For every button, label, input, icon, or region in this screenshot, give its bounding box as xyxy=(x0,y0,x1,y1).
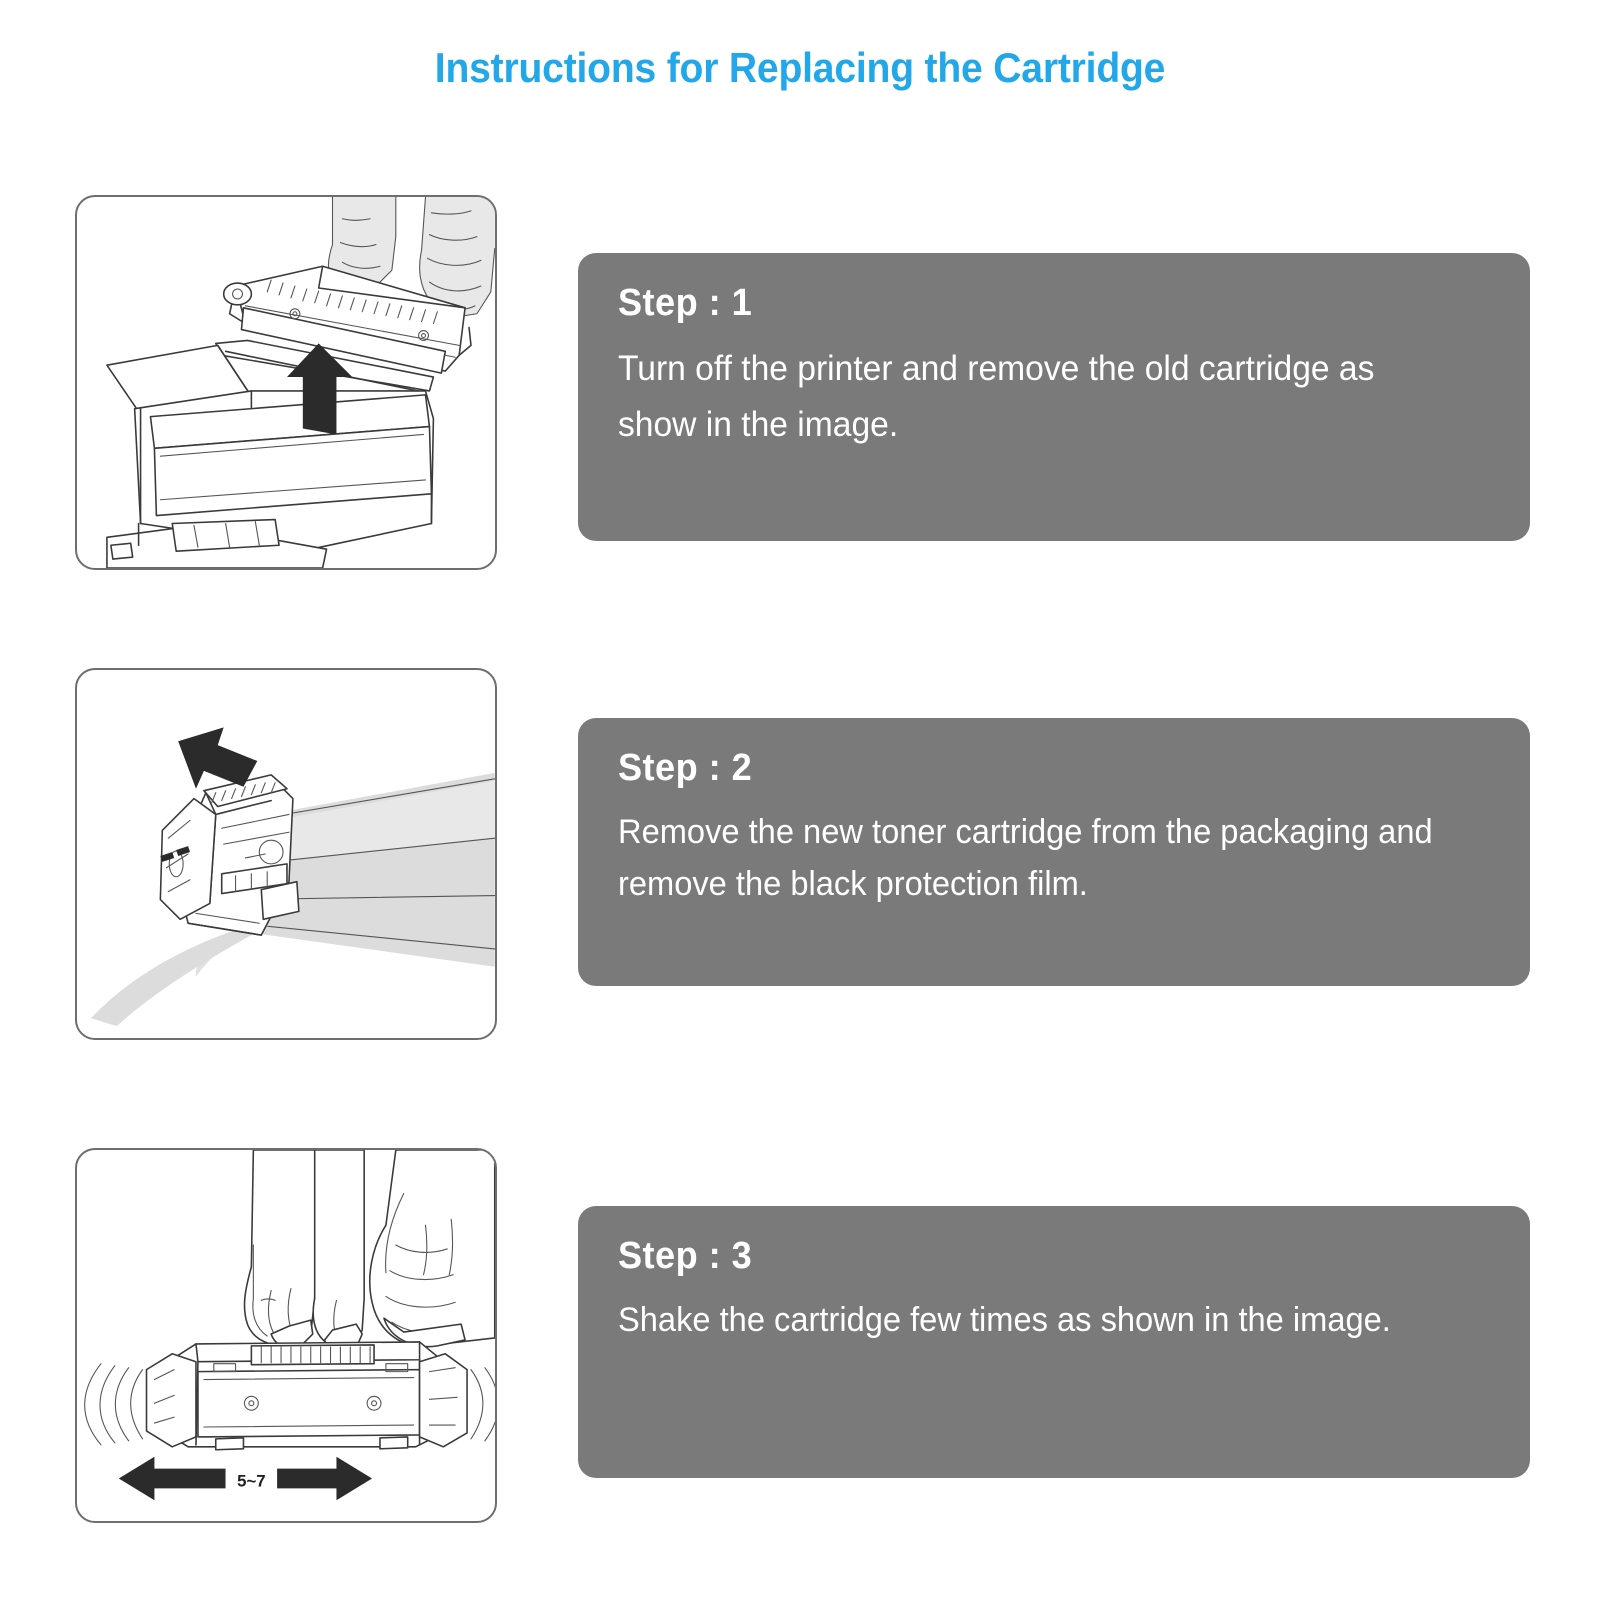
step-label-2: Step : 2 xyxy=(618,748,1446,790)
page-title: Instructions for Replacing the Cartridge xyxy=(56,44,1544,92)
step-card-1: Step : 1 Turn off the printer and remove… xyxy=(578,253,1530,541)
step-card-3: Step : 3 Shake the cartridge few times a… xyxy=(578,1206,1530,1478)
step-text-2: Remove the new toner cartridge from the … xyxy=(618,806,1455,911)
step-card-2: Step : 2 Remove the new toner cartridge … xyxy=(578,718,1530,986)
shake-count-annotation: 5~7 xyxy=(237,1471,266,1490)
step-text-1: Turn off the printer and remove the old … xyxy=(618,341,1455,454)
step-label-3: Step : 3 xyxy=(618,1236,1446,1278)
printer-cartridge-removal-illustration xyxy=(75,195,497,570)
cartridge-protection-film-illustration xyxy=(75,668,497,1040)
cartridge-shake-illustration: 5~7 xyxy=(75,1148,497,1523)
step-label-1: Step : 1 xyxy=(618,283,1446,325)
step-text-3: Shake the cartridge few times as shown i… xyxy=(618,1294,1455,1348)
